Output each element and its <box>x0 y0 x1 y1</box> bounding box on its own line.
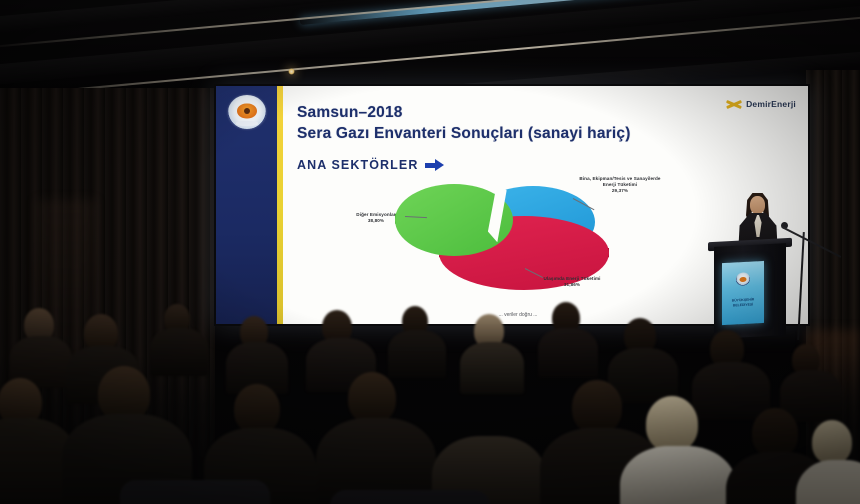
head <box>572 380 622 434</box>
head <box>812 420 852 464</box>
speaker-head <box>750 196 765 214</box>
pie-label-blue-text: Bina, Ekipman/Tesis ve Sanayilerde Enerj… <box>579 176 660 187</box>
shoulders <box>150 328 208 376</box>
pie-label-green: Diğer Emisyonlar 38,80% <box>345 212 407 224</box>
pie-label-red-value: 31,86% <box>564 282 580 287</box>
slide-side-band <box>216 86 277 324</box>
seat <box>120 480 270 504</box>
shoulders <box>460 342 524 394</box>
spotlight-icon <box>288 68 295 75</box>
municipality-emblem-icon <box>736 272 750 286</box>
pie-label-blue: Bina, Ekipman/Tesis ve Sanayilerde Enerj… <box>579 176 661 195</box>
pie-chart: Bina, Ekipman/Tesis ve Sanayilerde Enerj… <box>345 172 675 304</box>
pie-label-red-text: Ulaşımda Enerji Tüketimi <box>543 276 600 281</box>
seal-ribbon <box>236 121 258 126</box>
samsun-municipality-seal-icon <box>228 95 266 129</box>
pie-label-blue-value: 29,37% <box>612 188 628 193</box>
slide-title-line1: Samsun–2018 <box>297 103 727 124</box>
head <box>646 396 698 452</box>
pie-label-red: Ulaşımda Enerji Tüketimi 31,86% <box>541 276 603 288</box>
emblem-core <box>740 277 747 282</box>
shoulders <box>388 330 446 378</box>
demir-enerji-x-mark-icon <box>725 97 742 111</box>
head <box>348 372 396 424</box>
shoulders <box>692 362 770 420</box>
slide-title-line2: Sera Gazı Envanteri Sonuçları (sanayi ha… <box>297 124 727 145</box>
audience-silhouettes <box>0 300 860 504</box>
pie-label-green-value: 38,80% <box>368 218 384 223</box>
pie-label-green-text: Diğer Emisyonlar <box>356 212 395 217</box>
slide-subtitle: ANA SEKTÖRLER <box>297 158 445 172</box>
head <box>752 408 798 458</box>
slide-subtitle-text: ANA SEKTÖRLER <box>297 158 418 172</box>
head <box>460 390 508 442</box>
brand-name: DemirEnerji <box>746 99 796 109</box>
arrow-right-icon <box>425 159 445 171</box>
conference-hall-photo: DemirEnerji Samsun–2018 Sera Gazı Envant… <box>0 0 860 504</box>
slide-title: Samsun–2018 Sera Gazı Envanteri Sonuçlar… <box>297 103 727 144</box>
seal-center-dot <box>244 108 250 114</box>
demir-enerji-logo: DemirEnerji <box>725 97 796 111</box>
shoulders <box>620 446 736 504</box>
shoulders <box>538 328 598 378</box>
seat <box>330 490 490 504</box>
head <box>234 384 280 434</box>
